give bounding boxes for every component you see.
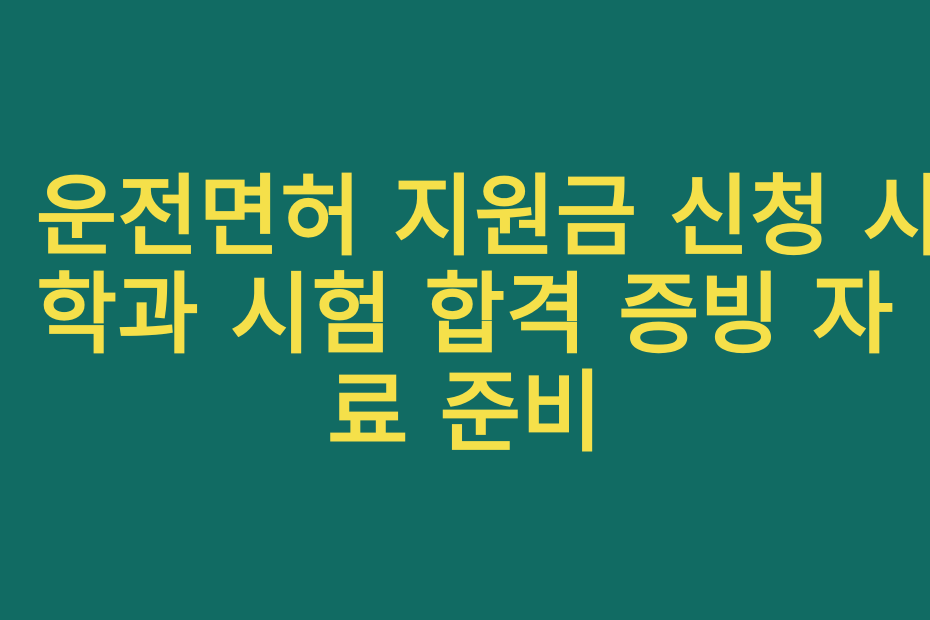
text-card-canvas: 운전면허 지원금 신청 시 학과 시험 합격 증빙 자 료 준비 xyxy=(0,0,930,620)
headline-block: 운전면허 지원금 신청 시 학과 시험 합격 증빙 자 료 준비 xyxy=(0,168,930,462)
headline-line-2: 학과 시험 합격 증빙 자 xyxy=(36,266,894,364)
headline-line-1: 운전면허 지원금 신청 시 xyxy=(36,168,894,266)
headline-line-3: 료 준비 xyxy=(36,364,894,462)
